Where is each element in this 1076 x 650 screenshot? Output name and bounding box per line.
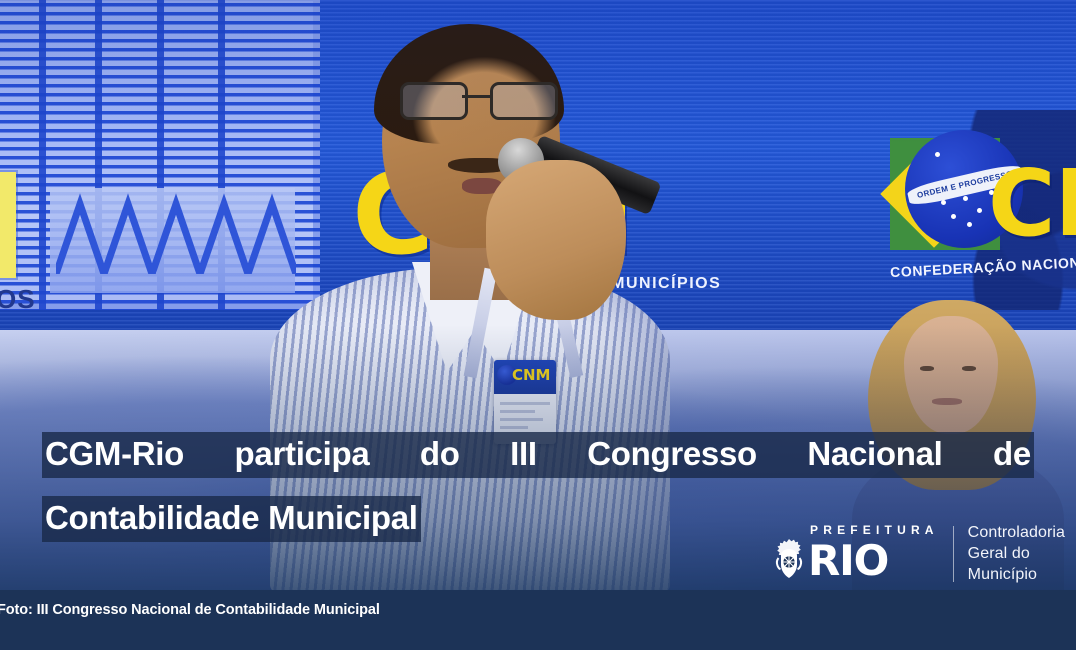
brand-divider [953,526,954,582]
headline-word: Congresso [587,433,757,475]
headline-word: de [993,433,1031,475]
badge-header: CNM [494,360,556,394]
headline-word: CGM-Rio [45,433,184,475]
cgm-org-name: Controladoria Geral do Município [968,522,1065,585]
badge-logo-text: CNM [512,366,551,384]
yellow-side-banner [0,172,16,278]
headline-word: III [510,433,537,475]
prefeitura-label: PREFEITURA [810,523,939,537]
brand-lockup: PREFEITURA RIO [772,522,1065,585]
headline-word: participa [235,433,370,475]
left-sign-text: OS [0,284,36,315]
headline-word: Nacional [807,433,942,475]
photo-caption: Foto: III Congresso Nacional de Contabil… [0,602,380,618]
rio-logo-row: RIO [772,538,939,585]
cgm-org-line-3: Município [968,564,1065,585]
caption-bar: Foto: III Congresso Nacional de Contabil… [0,590,1076,650]
rio-wordmark: RIO [808,542,888,581]
zigzag-pattern [56,186,296,274]
cgm-org-line-2: Geral do [968,543,1065,564]
headline-line-1: CGM-Rio participa do III Congresso Nacio… [42,432,1034,478]
news-hero-image: OS CNM AL DE MUNICÍPIOS ORDEM E PROGRESS… [0,0,1076,650]
cgm-org-line-1: Controladoria [968,522,1065,543]
headline-word: do [420,433,460,475]
rio-coat-of-arms-icon [772,538,806,585]
headline-line-2: Contabilidade Municipal [42,496,421,542]
cnm-banner-right: ORDEM E PROGRESSO CN CONFEDERAÇÃO NACION… [860,120,1076,310]
eyeglasses-icon [400,82,558,116]
woman-mouth [932,398,962,405]
cnm-right-logo-letters: CN [988,150,1076,257]
prefeitura-rio-logo: PREFEITURA RIO [772,523,939,585]
speaker-hand [486,160,626,320]
